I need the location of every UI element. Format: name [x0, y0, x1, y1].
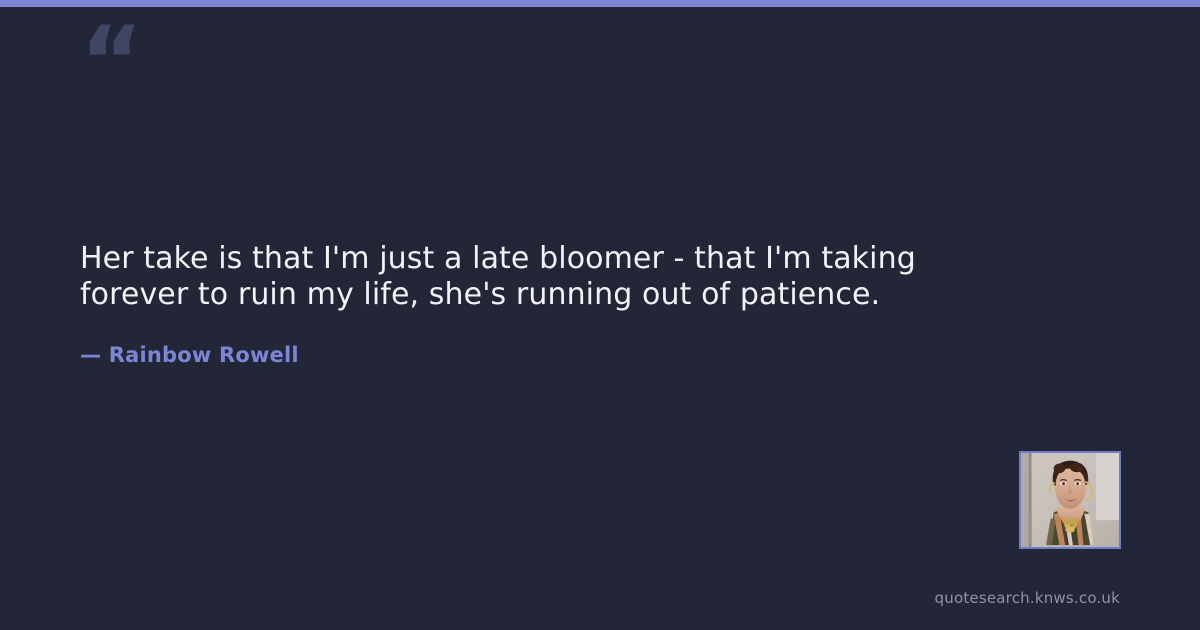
quote-text: Her take is that I'm just a late bloomer…: [80, 241, 980, 313]
author-portrait-image: [1021, 453, 1119, 547]
top-accent-bar: [0, 0, 1200, 7]
quote-attribution: — Rainbow Rowell: [80, 313, 1080, 368]
author-portrait: [1019, 451, 1121, 549]
quote-block: Her take is that I'm just a late bloomer…: [80, 241, 1080, 368]
open-quote-icon: “: [80, 14, 141, 110]
quote-card: “ Her take is that I'm just a late bloom…: [0, 0, 1200, 630]
site-watermark: quotesearch.knws.co.uk: [935, 589, 1120, 607]
